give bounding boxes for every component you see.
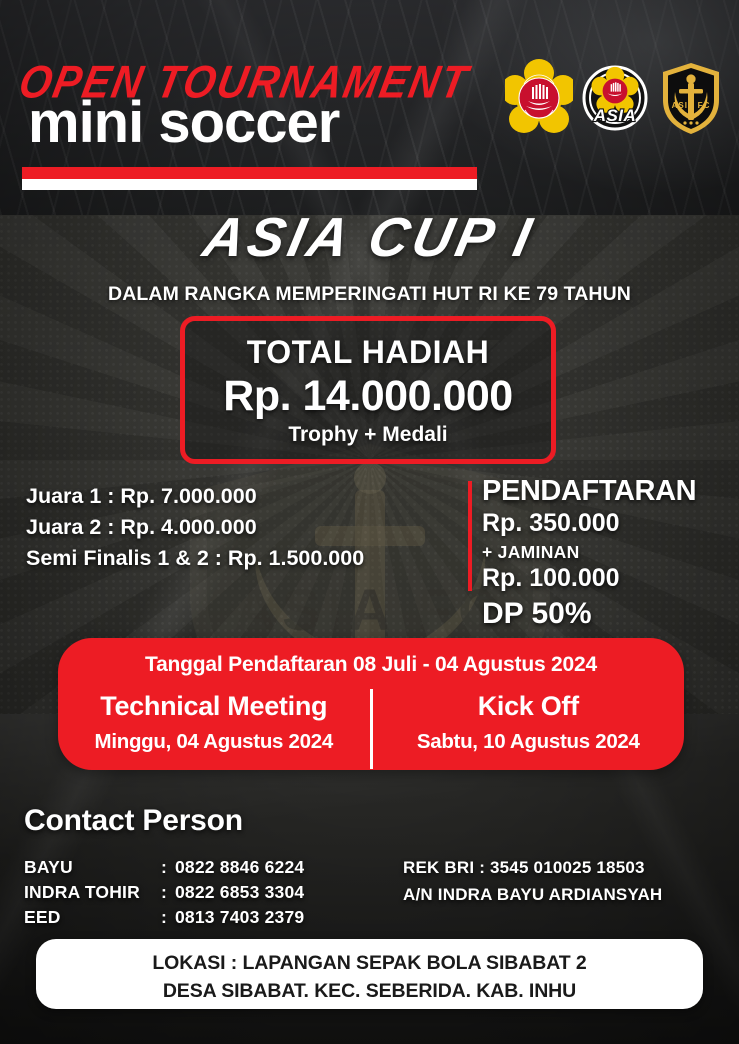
registration-fee: Rp. 350.000 [482,509,732,538]
contact-phone[interactable]: 0822 6853 3304 [175,880,304,905]
contact-phone[interactable]: 0822 8846 6224 [175,855,304,880]
flag-red-stripe [22,167,477,179]
prize-breakdown-list: Juara 1 : Rp. 7.000.000 Juara 2 : Rp. 4.… [26,481,456,575]
total-prize-extra: Trophy + Medali [185,423,551,447]
kick-off-block: Kick Off Sabtu, 10 Agustus 2024 [373,691,685,754]
kick-off-title: Kick Off [383,691,675,722]
technical-meeting-date: Minggu, 04 Agustus 2024 [68,730,360,754]
location-box: LOKASI : LAPANGAN SEPAK BOLA SIBABAT 2 D… [36,939,703,1009]
registration-title: PENDAFTARAN [482,475,732,508]
total-prize-label: TOTAL HADIAH [185,334,551,371]
logo-group: ASIA ASIA FC [505,58,725,138]
technical-meeting-title: Technical Meeting [68,691,360,722]
asia-fc-shield-logo-icon: ASIA FC [657,58,725,138]
technical-meeting-block: Technical Meeting Minggu, 04 Agustus 202… [58,691,370,754]
bank-account-holder: A/N INDRA BAYU ARDIANSYAH [403,885,662,905]
list-item: Semi Finalis 1 & 2 : Rp. 1.500.000 [26,543,456,574]
contact-separator: : [161,905,175,930]
list-item: EED : 0813 7403 2379 [24,905,304,930]
bank-account-info: REK BRI : 3545 010025 18503 A/N INDRA BA… [403,858,662,912]
schedule-box: Tanggal Pendaftaran 08 Juli - 04 Agustus… [58,638,684,770]
contact-separator: : [161,855,175,880]
asia-circle-logo-icon: ASIA [581,58,649,138]
svg-text:ASIA: ASIA [593,106,637,125]
contact-phone[interactable]: 0813 7403 2379 [175,905,304,930]
location-line-2: DESA SIBABAT. KEC. SEBERIDA. KAB. INHU [36,975,703,1003]
registration-section: PENDAFTARAN Rp. 350.000 + JAMINAN Rp. 10… [482,475,732,631]
registration-divider [468,481,472,591]
registration-deposit-label: + JAMINAN [482,542,732,563]
contact-name: BAYU [24,855,161,880]
contact-name: EED [24,905,161,930]
flag-white-stripe [22,179,477,190]
page-subtitle: DALAM RANGKA MEMPERINGATI HUT RI KE 79 T… [0,283,739,306]
list-item: Juara 1 : Rp. 7.000.000 [26,481,456,512]
list-item: INDRA TOHIR : 0822 6853 3304 [24,880,304,905]
page-title: ASIA CUP I [0,205,739,269]
bank-account-number: REK BRI : 3545 010025 18503 [403,858,662,878]
contact-person-heading: Contact Person [24,804,243,838]
total-prize-box: TOTAL HADIAH Rp. 14.000.000 Trophy + Med… [180,316,556,464]
tournament-poster: ASIA FC OPEN TOURNAMENT mini soccer [0,0,739,1044]
flag-divider-bar [22,167,477,190]
registration-period: Tanggal Pendaftaran 08 Juli - 04 Agustus… [58,638,684,677]
pemuda-pancasila-emblem-icon [505,58,573,138]
svg-text:ASIA FC: ASIA FC [672,101,711,110]
registration-deposit-amount: Rp. 100.000 [482,564,732,593]
location-line-1: LOKASI : LAPANGAN SEPAK BOLA SIBABAT 2 [36,939,703,975]
contact-name: INDRA TOHIR [24,880,161,905]
contact-person-list: BAYU : 0822 8846 6224 INDRA TOHIR : 0822… [24,855,304,930]
list-item: BAYU : 0822 8846 6224 [24,855,304,880]
list-item: Juara 2 : Rp. 4.000.000 [26,512,456,543]
total-prize-amount: Rp. 14.000.000 [185,372,551,421]
mini-soccer-heading: mini soccer [28,94,339,152]
kick-off-date: Sabtu, 10 Agustus 2024 [383,730,675,754]
registration-down-payment: DP 50% [482,597,732,631]
contact-separator: : [161,880,175,905]
